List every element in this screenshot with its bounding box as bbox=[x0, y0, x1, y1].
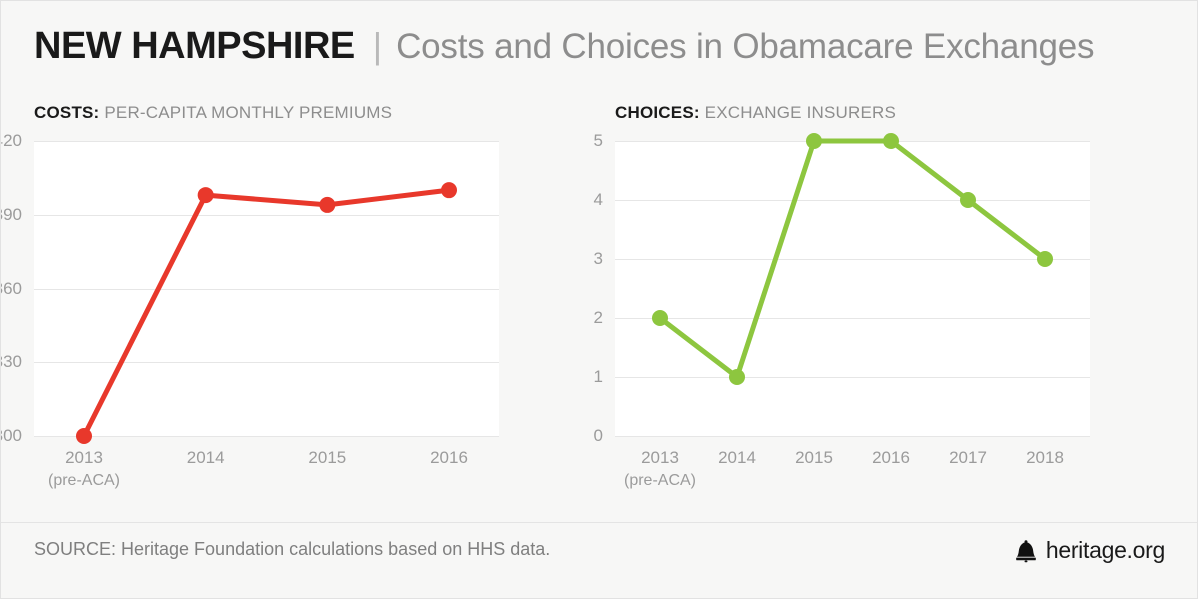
costs-x-axis: 2013(pre-ACA)201420152016 bbox=[34, 446, 579, 506]
costs-series bbox=[34, 141, 499, 436]
choices-x-tick-year: 2018 bbox=[1026, 448, 1064, 467]
costs-data-point[interactable] bbox=[198, 187, 214, 203]
choices-data-point[interactable] bbox=[806, 133, 822, 149]
costs-x-tick-year: 2015 bbox=[308, 448, 346, 467]
choices-data-point[interactable] bbox=[652, 310, 668, 326]
costs-plot-area: $300$330$360$390$420 bbox=[34, 141, 499, 436]
choices-heading-value: EXCHANGE INSURERS bbox=[705, 103, 896, 122]
costs-x-tick-year: 2014 bbox=[187, 448, 225, 467]
choices-x-tick-label: 2016 bbox=[872, 446, 910, 469]
costs-data-point[interactable] bbox=[441, 182, 457, 198]
choices-chart: 012345 2013(pre-ACA)20142015201620172018 bbox=[615, 141, 1167, 436]
costs-y-tick-label: $360 bbox=[0, 279, 34, 299]
costs-y-tick-label: $300 bbox=[0, 426, 34, 446]
logo-wordmark: heritage.org bbox=[1046, 537, 1165, 564]
choices-line bbox=[660, 141, 1045, 377]
choices-x-tick-label: 2013(pre-ACA) bbox=[624, 446, 696, 492]
choices-x-axis: 2013(pre-ACA)20142015201620172018 bbox=[615, 446, 1167, 506]
costs-x-tick-label: 2013(pre-ACA) bbox=[48, 446, 120, 492]
choices-y-tick-label: 0 bbox=[594, 426, 615, 446]
choices-y-tick-label: 1 bbox=[594, 367, 615, 387]
choices-data-point[interactable] bbox=[960, 192, 976, 208]
costs-chart: $300$330$360$390$420 2013(pre-ACA)201420… bbox=[34, 141, 579, 436]
source-note: SOURCE: Heritage Foundation calculations… bbox=[34, 539, 550, 560]
liberty-bell-icon bbox=[1015, 539, 1037, 563]
costs-y-tick-label: $330 bbox=[0, 352, 34, 372]
choices-x-tick-year: 2016 bbox=[872, 448, 910, 467]
infographic-root: NEW HAMPSHIRE | Costs and Choices in Oba… bbox=[0, 0, 1198, 599]
choices-x-tick-year: 2017 bbox=[949, 448, 987, 467]
choices-x-tick-label: 2015 bbox=[795, 446, 833, 469]
choices-x-tick-year: 2014 bbox=[718, 448, 756, 467]
choices-y-tick-label: 4 bbox=[594, 190, 615, 210]
heritage-logo[interactable]: heritage.org bbox=[1015, 537, 1165, 564]
choices-x-tick-year: 2013 bbox=[641, 448, 679, 467]
title-separator: | bbox=[373, 25, 382, 67]
costs-x-tick-label: 2015 bbox=[308, 446, 346, 469]
choices-y-tick-label: 5 bbox=[594, 131, 615, 151]
costs-heading-key: COSTS: bbox=[34, 103, 99, 122]
choices-series bbox=[615, 141, 1090, 436]
title-state: NEW HAMPSHIRE bbox=[34, 25, 355, 68]
costs-y-tick-label: $420 bbox=[0, 131, 34, 151]
page-title: NEW HAMPSHIRE | Costs and Choices in Oba… bbox=[34, 25, 1094, 68]
costs-x-tick-sublabel: (pre-ACA) bbox=[48, 469, 120, 492]
choices-x-tick-sublabel: (pre-ACA) bbox=[624, 469, 696, 492]
costs-data-point[interactable] bbox=[319, 197, 335, 213]
choices-heading-key: CHOICES: bbox=[615, 103, 700, 122]
choices-y-tick-label: 3 bbox=[594, 249, 615, 269]
costs-y-tick-label: $390 bbox=[0, 205, 34, 225]
costs-line bbox=[84, 190, 449, 436]
costs-heading-value: PER-CAPITA MONTHLY PREMIUMS bbox=[104, 103, 392, 122]
choices-gridline bbox=[615, 436, 1090, 437]
costs-x-tick-year: 2016 bbox=[430, 448, 468, 467]
costs-gridline bbox=[34, 436, 499, 437]
costs-panel-heading: COSTS: PER-CAPITA MONTHLY PREMIUMS bbox=[34, 103, 392, 123]
footer-divider bbox=[1, 522, 1197, 523]
choices-y-tick-label: 2 bbox=[594, 308, 615, 328]
choices-x-tick-year: 2015 bbox=[795, 448, 833, 467]
choices-x-tick-label: 2014 bbox=[718, 446, 756, 469]
title-subject: Costs and Choices in Obamacare Exchanges bbox=[396, 27, 1094, 67]
choices-x-tick-label: 2018 bbox=[1026, 446, 1064, 469]
choices-data-point[interactable] bbox=[1037, 251, 1053, 267]
costs-x-tick-label: 2014 bbox=[187, 446, 225, 469]
choices-x-tick-label: 2017 bbox=[949, 446, 987, 469]
choices-data-point[interactable] bbox=[883, 133, 899, 149]
choices-plot-area: 012345 bbox=[615, 141, 1090, 436]
choices-data-point[interactable] bbox=[729, 369, 745, 385]
choices-panel-heading: CHOICES: EXCHANGE INSURERS bbox=[615, 103, 896, 123]
costs-data-point[interactable] bbox=[76, 428, 92, 444]
costs-x-tick-year: 2013 bbox=[65, 448, 103, 467]
costs-x-tick-label: 2016 bbox=[430, 446, 468, 469]
